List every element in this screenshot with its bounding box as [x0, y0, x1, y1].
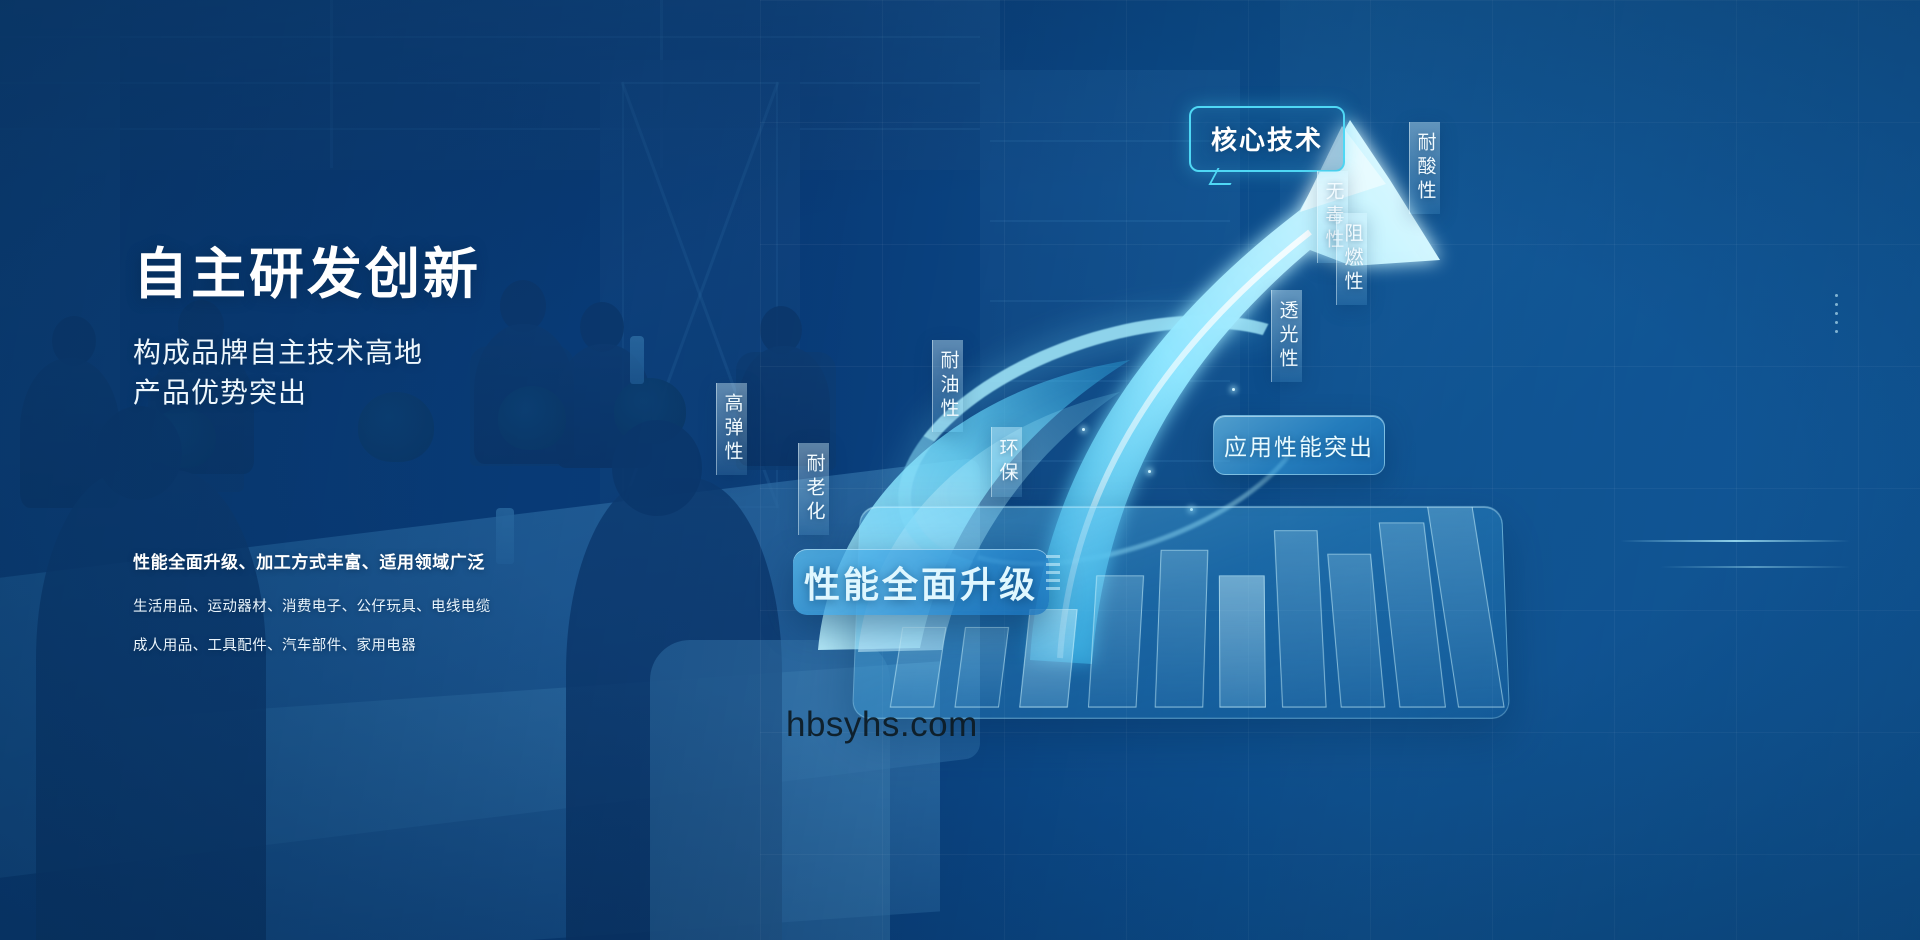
property-tag[interactable]: 环保 [991, 427, 1022, 497]
hero-copy: 自主研发创新 构成品牌自主技术高地 产品优势突出 [133, 247, 773, 413]
property-tag[interactable]: 耐油性 [932, 340, 963, 432]
chart-bar [890, 627, 947, 708]
facts-block: 性能全面升级、加工方式丰富、适用领域广泛 生活用品、运动器材、消费电子、公仔玩具… [133, 548, 753, 655]
decorative-dots [1835, 294, 1838, 333]
hero-subtitle-line-1: 构成品牌自主技术高地 [133, 333, 773, 373]
property-tag[interactable]: 透光性 [1271, 290, 1302, 382]
facts-applications-line-2: 成人用品、工具配件、汽车部件、家用电器 [133, 634, 753, 655]
chart-bar [1274, 530, 1327, 707]
hero-subtitle-line-2: 产品优势突出 [133, 373, 773, 413]
site-watermark: hbsyhs.com [786, 705, 978, 745]
banner-ticks [1046, 555, 1060, 590]
glow-line [1620, 540, 1850, 542]
property-tag[interactable]: 耐老化 [798, 443, 829, 535]
chart-bar [1219, 575, 1266, 707]
core-tech-callout[interactable]: 核心技术 [1189, 106, 1345, 172]
chart-bar [1327, 554, 1385, 708]
chart-bar [954, 627, 1009, 708]
facts-applications-line-1: 生活用品、运动器材、消费电子、公仔玩具、电线电缆 [133, 595, 753, 616]
hero-banner: 自主研发创新 构成品牌自主技术高地 产品优势突出 性能全面升级、加工方式丰富、适… [0, 0, 1920, 940]
hero-subtitle: 构成品牌自主技术高地 产品优势突出 [133, 333, 773, 413]
chart-bar [1155, 550, 1209, 708]
application-performance-button[interactable]: 应用性能突出 [1213, 415, 1385, 475]
property-tag[interactable]: 耐酸性 [1409, 122, 1440, 214]
chart-bar [1019, 609, 1077, 708]
chart-bar [1088, 575, 1144, 707]
facts-lead: 性能全面升级、加工方式丰富、适用领域广泛 [133, 548, 753, 573]
property-tag[interactable]: 高弹性 [716, 383, 747, 475]
glow-line [1660, 566, 1850, 568]
performance-upgrade-banner[interactable]: 性能全面升级 [793, 549, 1049, 615]
page-title: 自主研发创新 [133, 247, 773, 302]
property-tag[interactable]: 阻燃性 [1336, 213, 1367, 305]
